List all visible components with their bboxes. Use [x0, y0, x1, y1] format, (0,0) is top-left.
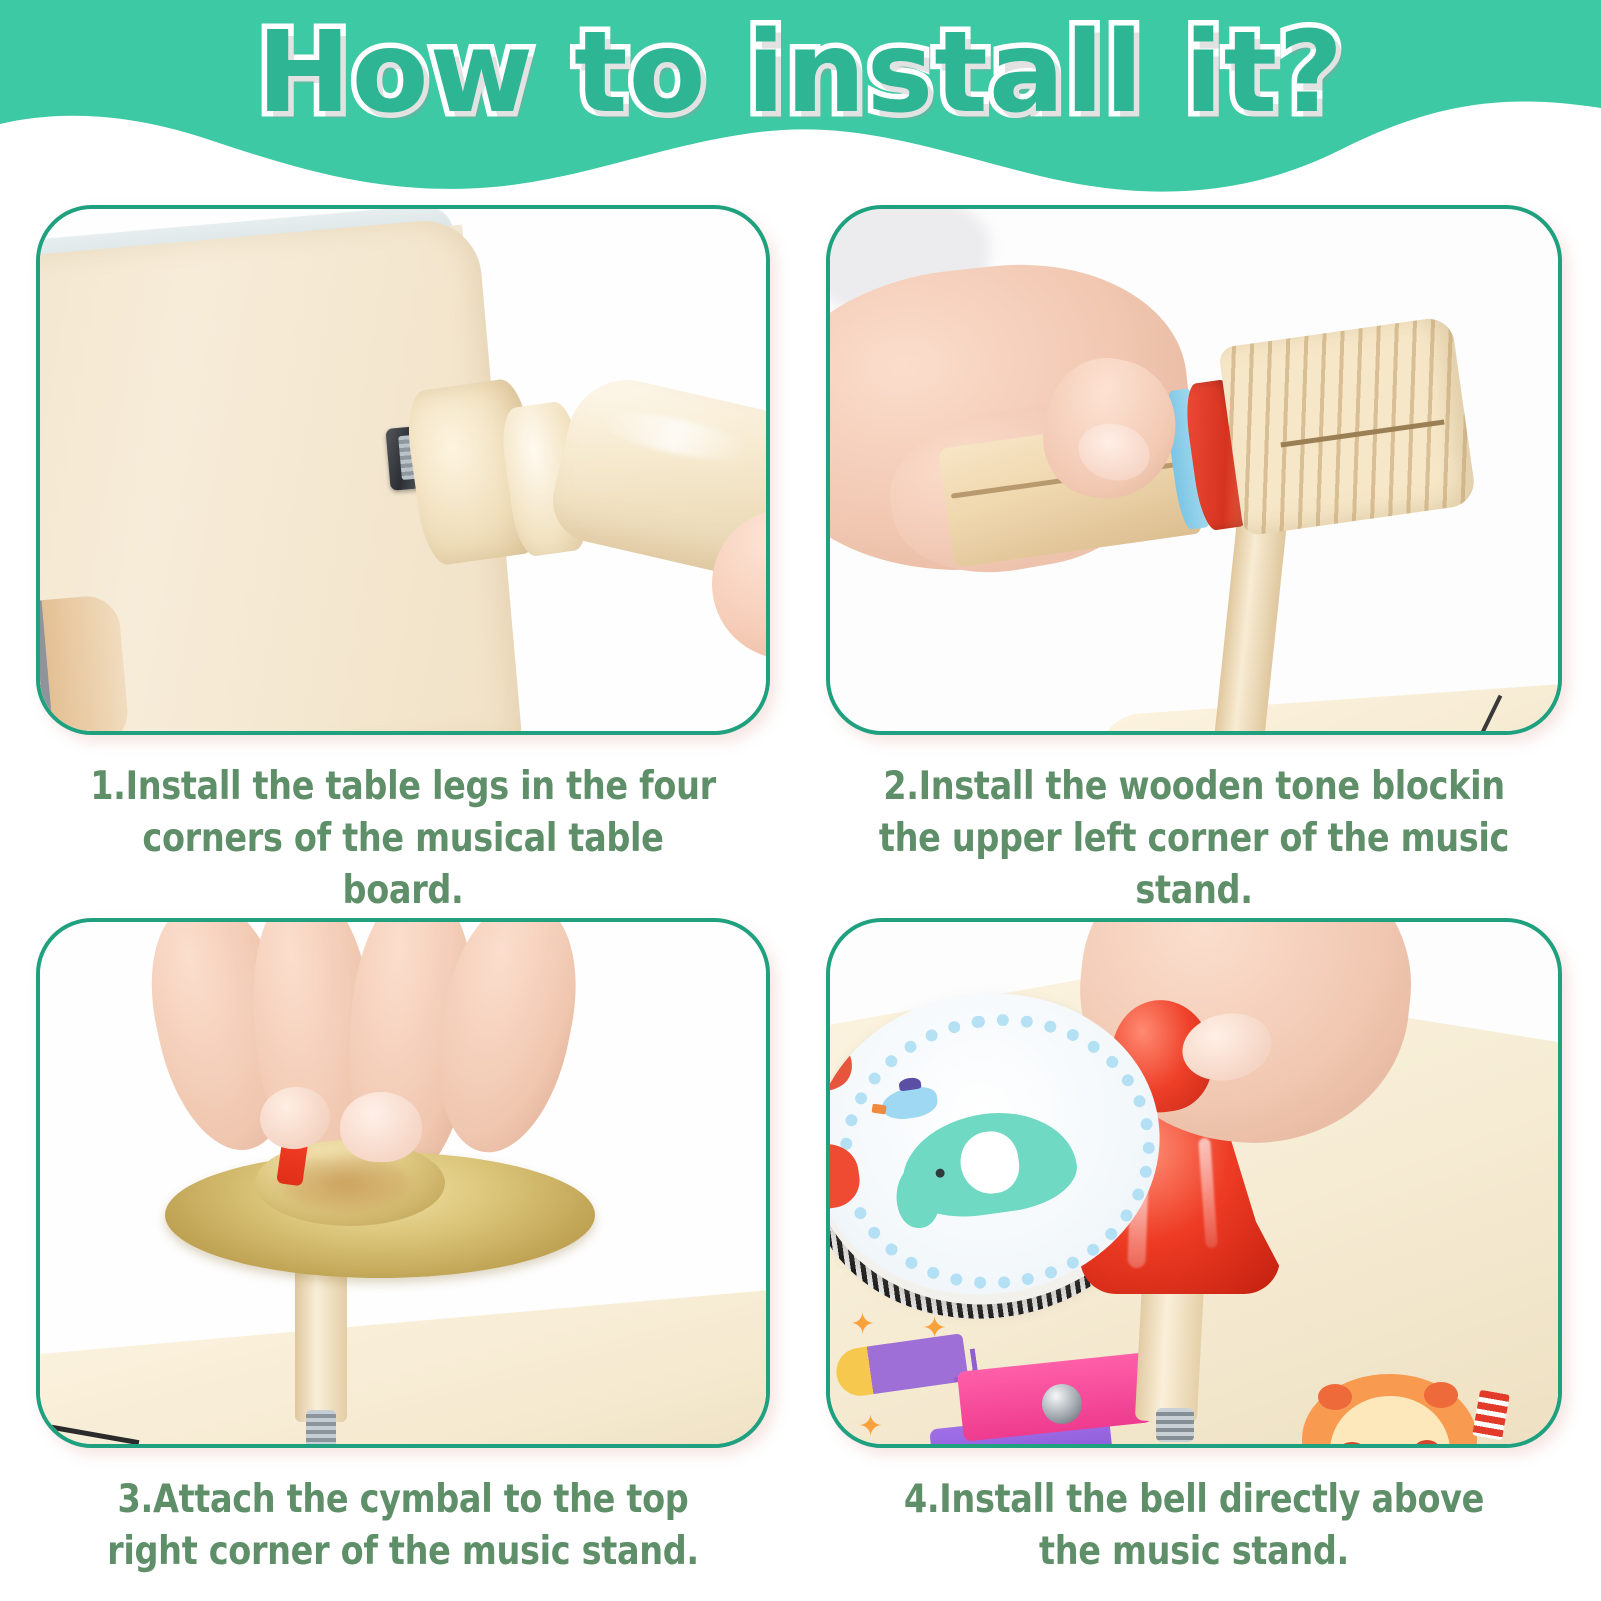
step-1-photo-inner [40, 209, 766, 731]
dowel-screw [1156, 1408, 1194, 1442]
step-2-caption: 2.Install the wooden tone blockin the up… [878, 761, 1511, 917]
page-header: How to install it? [0, 0, 1601, 200]
bird-beak-graphic [872, 1104, 887, 1115]
finger-nail-right [340, 1092, 422, 1162]
step-card-4: ✦ ✦ ✦ [826, 918, 1562, 1578]
step-4-photo-inner: ✦ ✦ ✦ [830, 922, 1558, 1444]
xylophone-metal-knob [1042, 1384, 1082, 1424]
step-card-3: 3.Attach the cymbal to the top right cor… [36, 918, 770, 1578]
tone-block-ribbed-guiro [1218, 316, 1477, 537]
step-card-1: 1.Install the table legs in the four cor… [36, 205, 770, 917]
step-4-photo: ✦ ✦ ✦ [826, 918, 1562, 1448]
step-3-photo [36, 918, 770, 1448]
dowel-screw [306, 1410, 336, 1444]
star-sticker-2: ✦ [922, 1314, 947, 1344]
step-1-caption: 1.Install the table legs in the four cor… [87, 761, 718, 917]
step-3-photo-inner [40, 922, 766, 1444]
star-sticker-3: ✦ [858, 1412, 883, 1442]
step-4-caption: 4.Install the bell directly above the mu… [878, 1474, 1511, 1578]
step-3-caption: 3.Attach the cymbal to the top right cor… [87, 1474, 718, 1578]
board-plywood-slot [40, 594, 130, 731]
step-2-photo-inner [830, 209, 1558, 731]
lion-ear-left [1318, 1384, 1352, 1410]
lion-ear-right [1424, 1382, 1458, 1408]
star-sticker-1: ✦ [850, 1310, 875, 1340]
step-2-photo [826, 205, 1562, 735]
step-card-2: 2.Install the wooden tone blockin the up… [826, 205, 1562, 917]
steps-grid: 1.Install the table legs in the four cor… [0, 200, 1601, 1601]
step-1-photo [36, 205, 770, 735]
slot-gray-layer [40, 600, 55, 731]
page-title: How to install it? [0, 8, 1601, 138]
